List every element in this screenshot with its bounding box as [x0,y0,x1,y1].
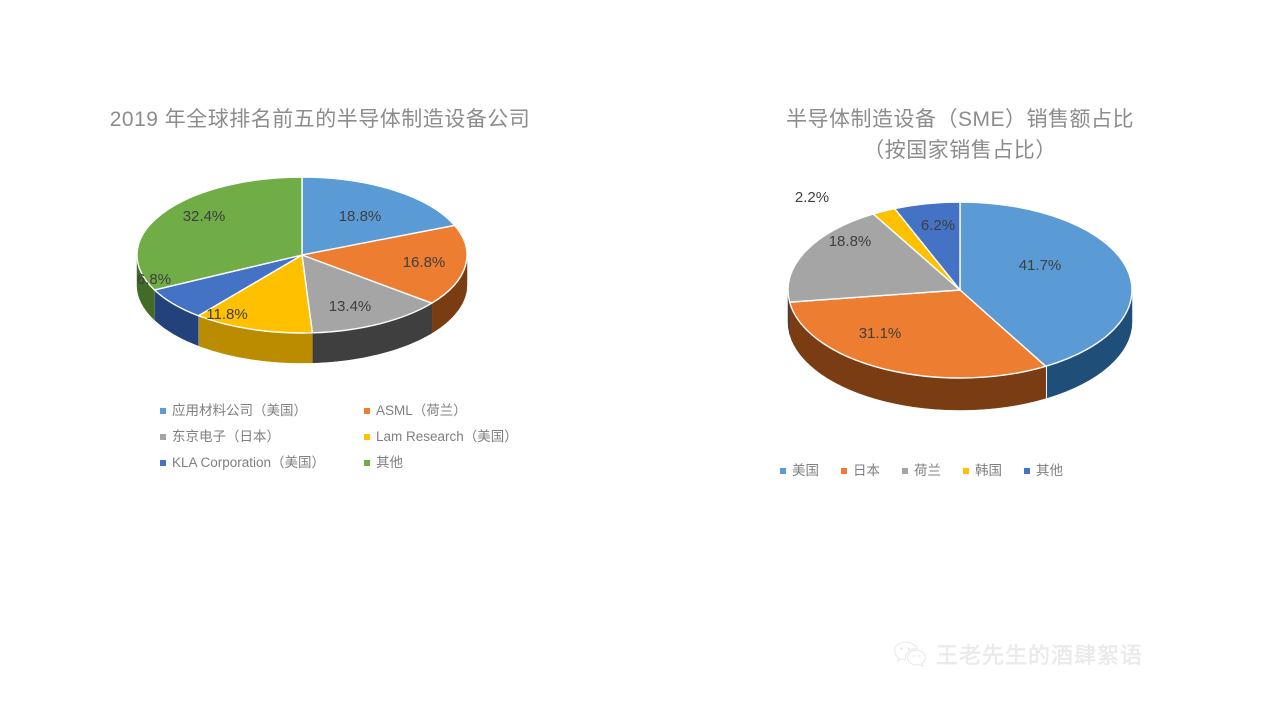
right-pie-chart: 41.7%31.1%18.8%2.2%6.2% [700,180,1240,430]
left-pie-chart: 18.8%16.8%13.4%11.8%6.8%32.4% [22,160,622,390]
legend-marker-icon [160,434,166,440]
legend-marker-icon [963,468,969,474]
right-chart-legend: 美国 日本 荷兰 韩国 其他 [780,458,1063,484]
legend-item-japan[interactable]: 日本 [841,458,880,484]
legend-marker-icon [364,434,370,440]
left-chart-legend: 应用材料公司（美国） ASML（荷兰） 东京电子（日本） Lam Researc… [160,398,500,476]
legend-item-asml[interactable]: ASML（荷兰） [364,398,524,424]
legend-item-label: 荷兰 [914,458,941,484]
pie-data-label: 16.8% [403,254,446,271]
legend-item-label: 韩国 [975,458,1002,484]
legend-item-usa[interactable]: 美国 [780,458,819,484]
legend-item-label: 应用材料公司（美国） [172,398,307,424]
watermark: 王老先生的酒肆絮语 [893,638,1143,670]
pie-data-label: 11.8% [206,306,247,323]
legend-marker-icon [160,408,166,414]
legend-item-lam-research[interactable]: Lam Research（美国） [364,424,524,450]
pie-data-label: 41.7% [1019,257,1062,274]
pie-data-label: 18.8% [339,208,382,225]
right-chart-title: 半导体制造设备（SME）销售额占比 （按国家销售占比） [640,104,1280,166]
legend-item-label: ASML（荷兰） [376,398,467,424]
pie-data-label: 32.4% [183,208,226,225]
legend-marker-icon [364,408,370,414]
legend-marker-icon [1024,468,1030,474]
legend-item-label: KLA Corporation（美国） [172,450,325,476]
chart-panel-left: 2019 年全球排名前五的半导体制造设备公司 18.8%16.8%13.4%11… [0,0,640,720]
pie-data-label: 2.2% [795,189,829,206]
legend-item-korea[interactable]: 韩国 [963,458,1002,484]
legend-item-label: 其他 [376,450,403,476]
legend-item-label: Lam Research（美国） [376,424,518,450]
legend-item-kla[interactable]: KLA Corporation（美国） [160,450,360,476]
legend-item-label: 东京电子（日本） [172,424,280,450]
pie-data-label: 18.8% [829,233,872,250]
legend-item-others[interactable]: 其他 [364,450,524,476]
legend-item-label: 其他 [1036,458,1063,484]
slide-canvas: 2019 年全球排名前五的半导体制造设备公司 18.8%16.8%13.4%11… [0,0,1280,720]
pie-data-label: 6.8% [137,271,171,288]
chart-panel-right: 半导体制造设备（SME）销售额占比 （按国家销售占比） 41.7%31.1%18… [640,0,1280,720]
legend-item-netherlands[interactable]: 荷兰 [902,458,941,484]
left-pie-svg: 18.8%16.8%13.4%11.8%6.8%32.4% [22,160,622,390]
legend-marker-icon [160,460,166,466]
legend-item-others[interactable]: 其他 [1024,458,1063,484]
legend-marker-icon [902,468,908,474]
watermark-text: 王老先生的酒肆絮语 [936,638,1143,670]
left-chart-title: 2019 年全球排名前五的半导体制造设备公司 [0,104,640,135]
legend-marker-icon [364,460,370,466]
legend-item-tokyo-electron[interactable]: 东京电子（日本） [160,424,360,450]
legend-item-label: 日本 [853,458,880,484]
legend-marker-icon [780,468,786,474]
pie-data-label: 6.2% [921,217,955,234]
right-pie-svg: 41.7%31.1%18.8%2.2%6.2% [700,180,1240,430]
legend-item-label: 美国 [792,458,819,484]
wechat-icon [893,640,927,668]
pie-data-label: 13.4% [329,298,372,315]
legend-marker-icon [841,468,847,474]
pie-data-label: 31.1% [859,325,902,342]
legend-item-applied-materials[interactable]: 应用材料公司（美国） [160,398,360,424]
